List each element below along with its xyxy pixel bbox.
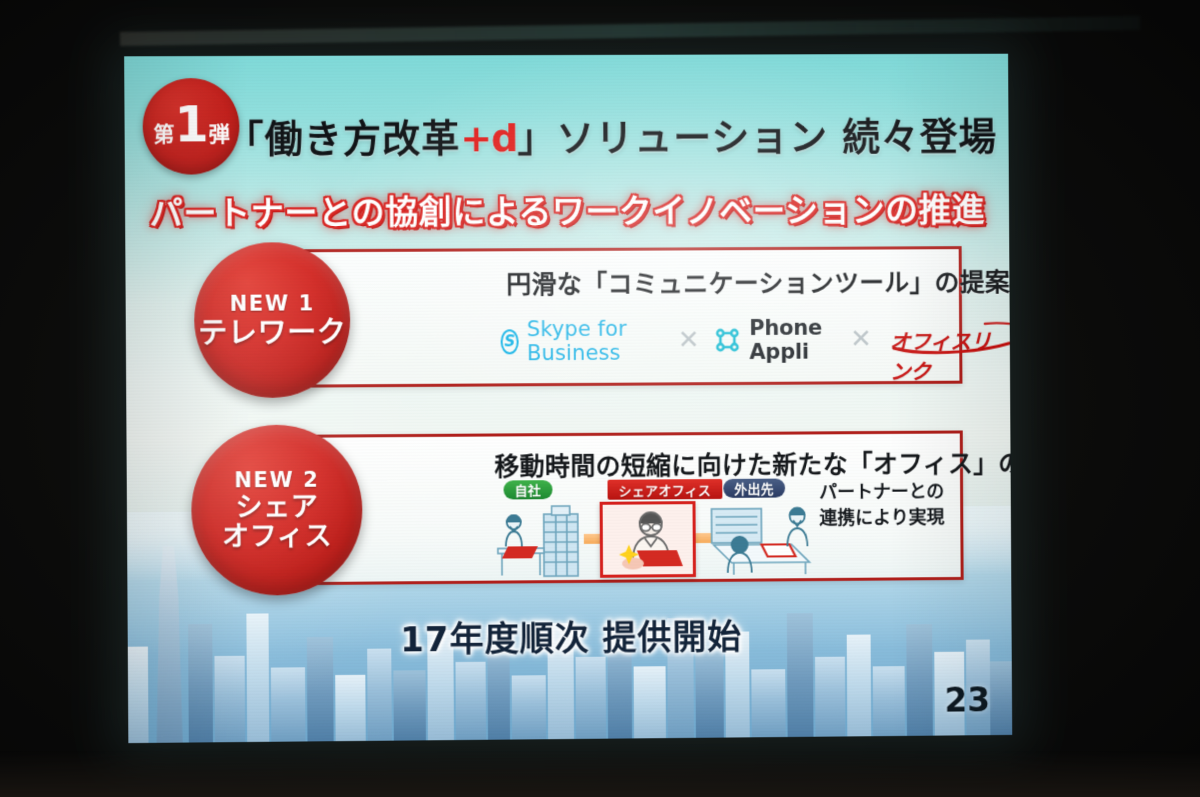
slide-title: 「働き方改革+d」ソリューション 続々登場 xyxy=(225,105,1012,163)
title-before: 「働き方改革 xyxy=(225,116,460,161)
telework-tag: NEW 1 xyxy=(230,291,315,316)
projection-room: 第 1 弾 「働き方改革+d」ソリューション 続々登場 パートナーとの協創による… xyxy=(0,0,1200,797)
badge-prefix: 第 xyxy=(153,118,173,148)
scene-label-share-office: シェアオフィス xyxy=(607,479,722,500)
office-link-logo: オフィスリンク xyxy=(886,322,1004,357)
city-building xyxy=(576,657,606,739)
city-building xyxy=(367,649,392,741)
partnership-note-line2: 連携により実現 xyxy=(819,505,944,532)
phone-appli-logo: Phone Appli xyxy=(713,316,836,365)
telework-logo-row: S Skype for Business ✕ xyxy=(500,315,1003,366)
city-building xyxy=(695,650,723,738)
slide-subtitle: パートナーとの協創によるワークイノベーションの推進 xyxy=(125,183,1009,235)
logo-separator-icon: ✕ xyxy=(678,327,700,353)
share-office-name-line1: シェア xyxy=(222,494,332,523)
availability-footer: 17年度順次 提供開始 xyxy=(128,607,1012,663)
badge-number: 1 xyxy=(174,104,208,146)
badge-share-office: NEW 2 シェア オフィス xyxy=(191,424,363,596)
city-building xyxy=(634,666,666,738)
plus-d-logo: +d xyxy=(460,116,517,160)
share-office-headline: 移動時間の短縮に向けた新たな「オフィス」の提案 xyxy=(494,444,1012,484)
projection-screen: 第 1 弾 「働き方改革+d」ソリューション 続々登場 パートナーとの協創による… xyxy=(124,54,1012,743)
city-building xyxy=(335,675,366,741)
city-building xyxy=(815,657,845,737)
phone-appli-label: Phone Appli xyxy=(749,316,836,364)
panel-share-office: 移動時間の短縮に向けた新たな「オフィス」の提案 自社 シェアオフィス 外出先 xyxy=(275,430,963,585)
badge-telework: NEW 1 テレワーク xyxy=(194,242,351,398)
city-building xyxy=(214,656,245,743)
panel-telework: 円滑な「コミュニケーションツール」の提案 S Skype for Busines… xyxy=(274,246,962,388)
share-office-tag: NEW 2 xyxy=(234,468,319,493)
scene-share-office xyxy=(600,501,696,578)
skype-label: Skype for Business xyxy=(527,316,664,365)
city-building xyxy=(990,661,1012,735)
office-link-label: オフィスリンク xyxy=(890,326,1005,386)
presentation-slide: 第 1 弾 「働き方改革+d」ソリューション 続々登場 パートナーとの協創による… xyxy=(124,54,1012,743)
city-building xyxy=(456,662,487,740)
share-office-name-line2: オフィス xyxy=(222,523,332,552)
share-office-name: シェア オフィス xyxy=(222,494,332,552)
city-building xyxy=(751,669,785,737)
telework-headline: 円滑な「コミュニケーションツール」の提案 xyxy=(506,263,1010,301)
city-building xyxy=(393,670,426,740)
page-number: 23 xyxy=(944,680,990,719)
partnership-note-line1: パートナーとの xyxy=(819,479,944,506)
skype-for-business-logo: S Skype for Business xyxy=(500,316,663,365)
city-building xyxy=(271,667,306,741)
share-office-illustration: 自社 シェアオフィス 外出先 xyxy=(491,478,821,578)
city-building xyxy=(873,666,905,736)
clover-icon xyxy=(713,327,741,353)
partnership-note: パートナーとの 連携により実現 xyxy=(819,479,944,532)
scene-on-the-go xyxy=(705,500,821,577)
scene-home-office xyxy=(494,502,598,579)
installment-badge: 第 1 弾 xyxy=(142,78,239,175)
skype-icon: S xyxy=(501,329,520,354)
scene-label-on-the-go: 外出先 xyxy=(723,479,785,498)
telework-name: テレワーク xyxy=(198,317,346,349)
city-building xyxy=(512,675,546,739)
badge-suffix: 弾 xyxy=(209,118,229,148)
logo-separator-icon: ✕ xyxy=(850,326,872,352)
scene-label-home-office: 自社 xyxy=(503,480,552,499)
title-after: 」ソリューション 続々登場 xyxy=(517,114,997,160)
